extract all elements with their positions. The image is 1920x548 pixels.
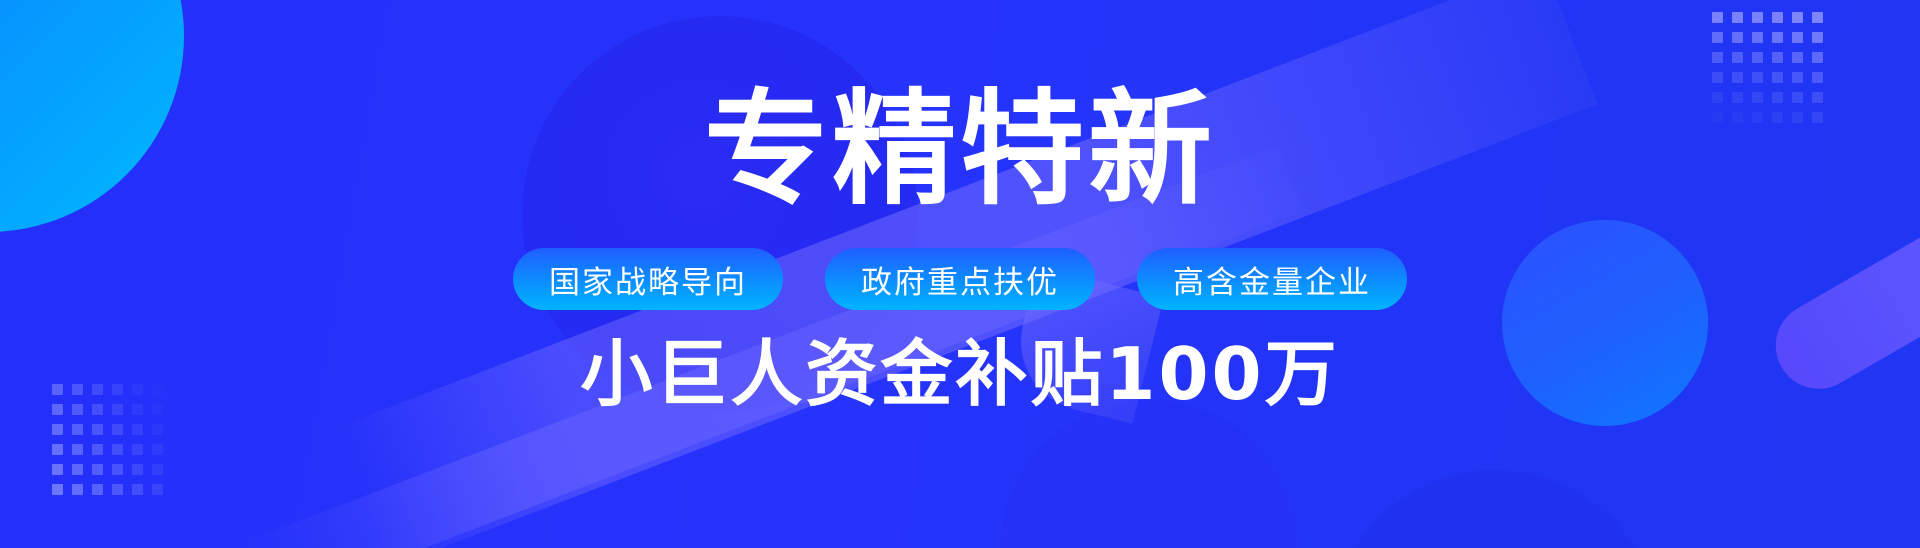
banner-headline: 专精特新 <box>704 88 1216 212</box>
banner-subline: 小巨人资金补贴100万 <box>580 338 1339 410</box>
promo-banner: 专精特新 国家战略导向 政府重点扶优 高含金量企业 小巨人资金补贴100万 <box>0 0 1920 548</box>
badge-government-support[interactable]: 政府重点扶优 <box>825 248 1095 310</box>
badge-national-strategy[interactable]: 国家战略导向 <box>513 248 783 310</box>
banner-content: 专精特新 国家战略导向 政府重点扶优 高含金量企业 小巨人资金补贴100万 <box>0 0 1920 548</box>
badge-high-value-enterprise[interactable]: 高含金量企业 <box>1137 248 1407 310</box>
badge-row: 国家战略导向 政府重点扶优 高含金量企业 <box>513 248 1407 310</box>
